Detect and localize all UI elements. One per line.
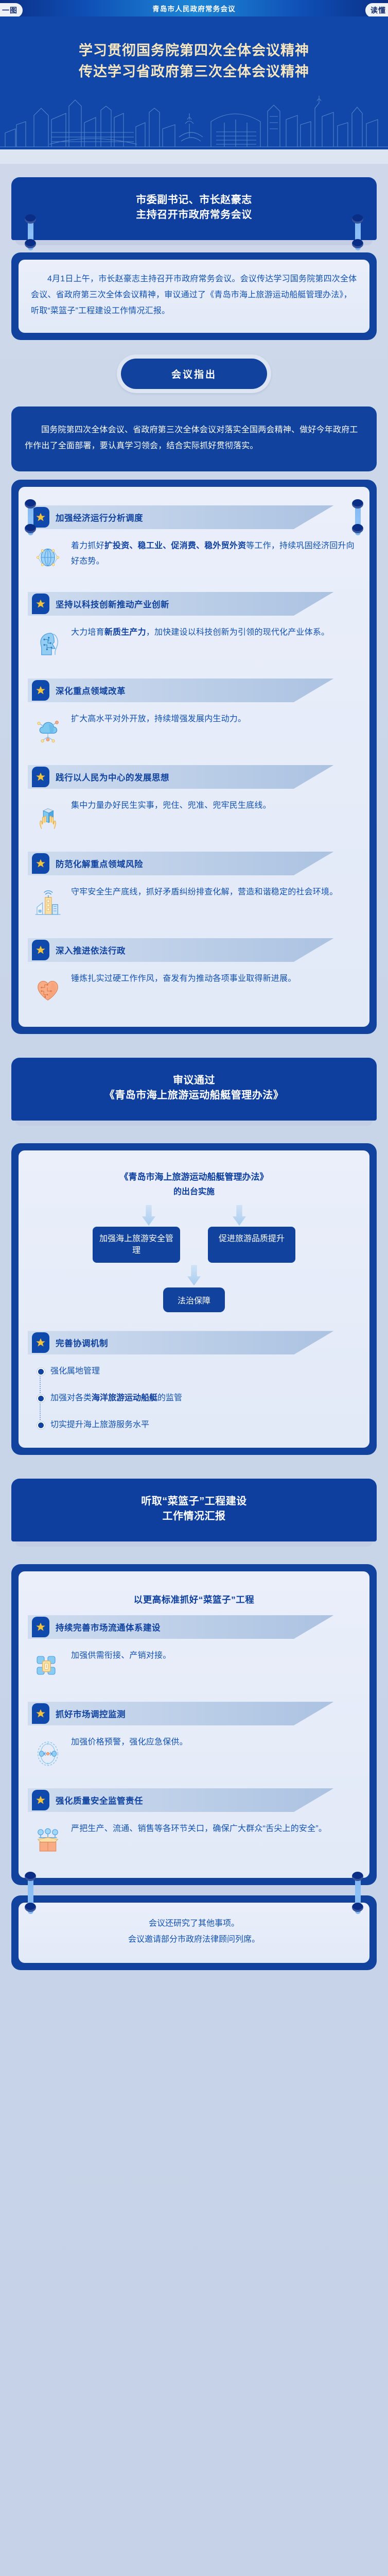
- section2-statement-card: 国务院第四次全体会议、省政府第三次全体会议对落实全国两会精神、做好今年政府工作作…: [11, 406, 377, 471]
- infographic-page: 一图 青岛市人民政府常务会议 读懂 学习贯彻国务院第四次全体会议精神 传达学习省…: [0, 0, 388, 2576]
- point-text-after: 锤炼扎实过硬工作作风，奋发有为推动各项事业取得新进展。: [71, 974, 296, 983]
- flow-boxes-row: 加强海上旅游安全管理 促进旅游品质提升: [28, 1227, 360, 1263]
- list-item-bold: 海洋旅游运动船艇: [92, 1394, 157, 1402]
- point-text: 守牢安全生产底线，抓好矛盾纠纷排查化解，营造和谐稳定的社会环境。: [71, 885, 357, 900]
- hero-foot-strip: [0, 149, 388, 164]
- closing-text: 会议还研究了其他事项。 会议邀请部分市政府法律顾问列席。: [31, 1916, 357, 1947]
- section3-plaque-line2: 《青岛市海上旅游运动船艇管理办法》: [104, 1090, 284, 1101]
- point-title: 强化质量安全监管责任: [56, 1794, 143, 1806]
- point-text-after: ，加快建设以科技创新为引领的现代化产业体系。: [146, 628, 329, 637]
- point-text-before: 大力培育: [71, 628, 104, 637]
- point-text: 加强价格预警，强化应急保供。: [71, 1735, 357, 1750]
- section1-plaque-line2: 主持召开市政府常务会议: [136, 209, 252, 221]
- section3-plaque: 审议通过 《青岛市海上旅游运动船艇管理办法》: [11, 1058, 377, 1121]
- flow-box: 促进旅游品质提升: [208, 1227, 295, 1263]
- point-ribbon: 强化质量安全监管责任: [28, 1788, 360, 1812]
- flow-title: 《青岛市海上旅游运动船艇管理办法》 的出台实施: [28, 1170, 360, 1199]
- grid-link-icon: [31, 1650, 65, 1684]
- point-ribbon: 践行以人民为中心的发展思想: [28, 765, 360, 789]
- list-item: 切实提升海上旅游服务水平: [50, 1418, 360, 1432]
- flow-arrows-row: [28, 1205, 360, 1226]
- section4-center-title: 以更高标准抓好“菜篮子”工程: [28, 1593, 360, 1606]
- point-text-before: 着力抓好: [71, 541, 104, 550]
- arrow-down-icon: [187, 1265, 201, 1285]
- point-item: 防范化解重点领域风险: [28, 852, 360, 929]
- section1-plaque: 市委副书记、市长赵豪志 主持召开市政府常务会议: [11, 177, 377, 240]
- point-text: 加强供需衔接、产销对接。: [71, 1648, 357, 1664]
- star-icon: [32, 1790, 49, 1810]
- star-icon: [32, 680, 49, 701]
- point-ribbon: 坚持以科技创新推动产业创新: [28, 592, 360, 616]
- globe-network-icon: [31, 540, 65, 574]
- smart-building-icon: [31, 887, 65, 921]
- point-ribbon: 加强经济运行分析调度: [28, 505, 360, 529]
- food-box-icon: [31, 1823, 65, 1857]
- section3-board: 《青岛市海上旅游运动船艇管理办法》 的出台实施 加强海上旅游安全管理 促进旅游品…: [11, 1143, 377, 1455]
- price-monitor-icon: [31, 1737, 65, 1771]
- top-bar: 一图 青岛市人民政府常务会议 读懂: [0, 0, 388, 16]
- section4-plaque-line1: 听取“菜篮子”工程建设: [141, 1496, 247, 1507]
- coordination-title: 完善协调机制: [56, 1336, 108, 1349]
- brain-circuit-icon: [31, 627, 65, 661]
- point-title: 防范化解重点领域风险: [56, 857, 143, 870]
- capsule-meeting-points[interactable]: 会议指出: [121, 359, 267, 389]
- point-ribbon: 抓好市场调控监测: [28, 1702, 360, 1725]
- point-title: 深入推进依法行政: [56, 944, 126, 956]
- section4-plaque-line2: 工作情况汇报: [163, 1511, 226, 1522]
- star-icon: [32, 594, 49, 614]
- point-text-after: 扩大高水平对外开放，持续增强发展内生动力。: [71, 715, 246, 723]
- list-item-after: 的监管: [157, 1394, 182, 1402]
- flow-box: 加强海上旅游安全管理: [93, 1227, 180, 1263]
- closing-board: 会议还研究了其他事项。 会议邀请部分市政府法律顾问列席。: [11, 1895, 377, 1970]
- hands-box-icon: [31, 800, 65, 834]
- flow-arrow-mid-wrap: [28, 1265, 360, 1285]
- star-icon: [32, 940, 49, 960]
- skyline-illustration: [0, 93, 388, 149]
- point-item: 坚持以科技创新推动产业创新: [28, 592, 360, 669]
- flow-title-sub: 的出台实施: [28, 1185, 360, 1199]
- point-item: 强化质量安全监管责任 严把生产、流通、: [28, 1788, 360, 1866]
- hero-title: 学习贯彻国务院第四次全体会议精神 传达学习省政府第三次全体会议精神: [0, 40, 388, 82]
- point-text: 大力培育新质生产力，加快建设以科技创新为引领的现代化产业体系。: [71, 625, 357, 640]
- list-item-text: 强化属地管理: [50, 1367, 100, 1376]
- point-text-after: 守牢安全生产底线，抓好矛盾纠纷排查化解，营造和谐稳定的社会环境。: [71, 888, 338, 896]
- point-title: 抓好市场调控监测: [56, 1707, 126, 1720]
- arrow-down-icon: [142, 1205, 155, 1226]
- point-text: 严把生产、流通、销售等各环节关口，确保广大群众“舌尖上的安全”。: [71, 1821, 357, 1837]
- point-title: 践行以人民为中心的发展思想: [56, 771, 169, 783]
- point-text: 扩大高水平对外开放，持续增强发展内生动力。: [71, 711, 357, 727]
- point-item: 深入推进依法行政: [28, 938, 360, 1015]
- flow-box-legal: 法治保障: [163, 1287, 225, 1312]
- section1-body: 4月1日上午，市长赵豪志主持召开市政府常务会议。会议传达学习国务院第四次全体会议…: [31, 271, 357, 319]
- section4-plaque: 听取“菜篮子”工程建设 工作情况汇报: [11, 1479, 377, 1541]
- closing-line1: 会议还研究了其他事项。: [149, 1919, 239, 1928]
- star-icon: [32, 853, 49, 874]
- star-icon: [32, 1617, 49, 1637]
- point-text: 集中力量办好民生实事，兜住、兜准、兜牢民生底线。: [71, 798, 357, 814]
- list-item: 加强对各类海洋旅游运动船艇的监管: [50, 1392, 360, 1405]
- hero-title-line2: 传达学习省政府第三次全体会议精神: [79, 64, 309, 79]
- page-title: 青岛市人民政府常务会议: [152, 3, 236, 13]
- badge-left: 一图: [0, 3, 23, 18]
- point-item: 深化重点领域改革: [28, 679, 360, 756]
- list-item-before: 加强对各类: [50, 1394, 92, 1402]
- section2-points-board: 加强经济运行分析调度: [11, 480, 377, 1034]
- point-text-after: 集中力量办好民生实事，兜住、兜准、兜牢民生底线。: [71, 801, 271, 810]
- point-item: 践行以人民为中心的发展思想 集中力量办好民生实事，兜住、兜准、兜牢民生底: [28, 765, 360, 842]
- hero-banner: 学习贯彻国务院第四次全体会议精神 传达学习省政府第三次全体会议精神: [0, 16, 388, 149]
- hero-title-line1: 学习贯彻国务院第四次全体会议精神: [79, 43, 309, 58]
- closing-line2: 会议邀请部分市政府法律顾问列席。: [128, 1935, 260, 1944]
- badge-right: 读懂: [365, 3, 388, 18]
- section1-plaque-line1: 市委副书记、市长赵豪志: [136, 194, 252, 206]
- point-item: 持续完善市场流通体系建设: [28, 1615, 360, 1692]
- point-text-bold: 扩投资、稳工业、促消费、稳外贸外资: [104, 541, 246, 550]
- star-icon: [32, 507, 49, 528]
- point-text-bold: 新质生产力: [104, 628, 146, 637]
- point-ribbon: 防范化解重点领域风险: [28, 852, 360, 875]
- coordination-ribbon: 完善协调机制: [28, 1331, 360, 1354]
- heart-circuit-icon: [31, 973, 65, 1007]
- cloud-network-icon: [31, 714, 65, 748]
- list-item-text: 切实提升海上旅游服务水平: [50, 1420, 149, 1429]
- point-title: 持续完善市场流通体系建设: [56, 1621, 161, 1633]
- flow-title-main: 《青岛市海上旅游运动船艇管理办法》: [120, 1172, 269, 1182]
- section3-plaque-line1: 审议通过: [173, 1075, 215, 1086]
- point-text: 锤炼扎实过硬工作作风，奋发有为推动各项事业取得新进展。: [71, 971, 357, 987]
- arrow-down-icon: [233, 1205, 246, 1226]
- point-ribbon: 深入推进依法行政: [28, 938, 360, 962]
- point-item: 抓好市场调控监测: [28, 1702, 360, 1779]
- list-item: 强化属地管理: [50, 1365, 360, 1378]
- point-item: 加强经济运行分析调度: [28, 505, 360, 583]
- capsule-meeting-points-wrap[interactable]: 会议指出: [117, 354, 271, 393]
- point-text: 着力抓好扩投资、稳工业、促消费、稳外贸外资等工作，持续巩固经济回升向好态势。: [71, 538, 357, 569]
- point-ribbon: 持续完善市场流通体系建设: [28, 1615, 360, 1639]
- section1-board: 4月1日上午，市长赵豪志主持召开市政府常务会议。会议传达学习国务院第四次全体会议…: [11, 252, 377, 340]
- point-ribbon: 深化重点领域改革: [28, 679, 360, 702]
- star-icon: [32, 767, 49, 787]
- star-icon: [32, 1332, 49, 1353]
- coordination-bullet-list: 强化属地管理 加强对各类海洋旅游运动船艇的监管 切实提升海上旅游服务水平: [37, 1365, 360, 1431]
- point-title: 坚持以科技创新推动产业创新: [56, 598, 169, 610]
- point-title: 加强经济运行分析调度: [56, 511, 143, 523]
- section4-board: 以更高标准抓好“菜篮子”工程 持续完善市场流通体系建设: [11, 1564, 377, 1885]
- section2-body: 国务院第四次全体会议、省政府第三次全体会议对落实全国两会精神、做好今年政府工作作…: [25, 422, 363, 454]
- star-icon: [32, 1703, 49, 1724]
- point-title: 深化重点领域改革: [56, 684, 126, 697]
